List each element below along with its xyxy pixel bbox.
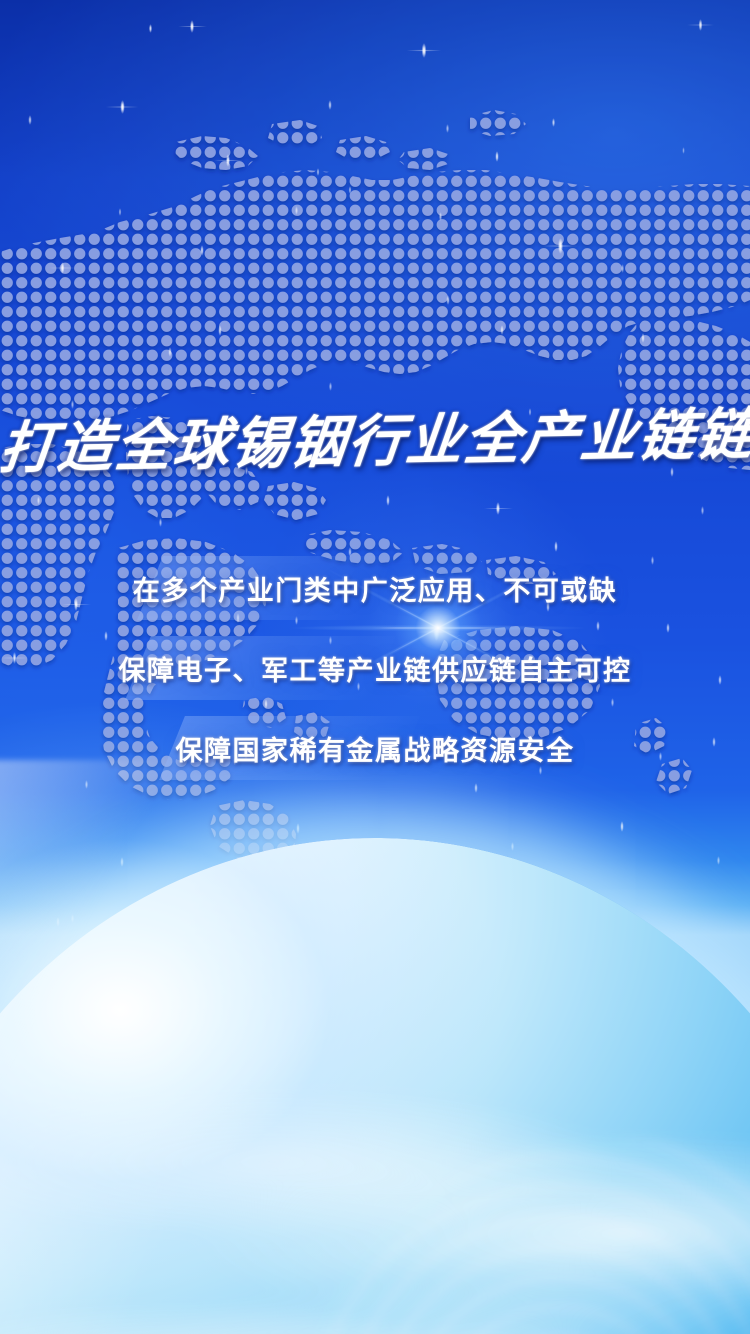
sparkle-icon — [349, 186, 352, 194]
earth-highlight — [0, 838, 750, 1334]
sparkle-icon — [682, 147, 684, 154]
sparkle-icon — [422, 43, 427, 58]
sparkle-icon — [190, 20, 194, 33]
sparkle-icon — [28, 115, 31, 125]
sparkle-icon — [641, 333, 644, 343]
sparkle-icon — [438, 212, 441, 221]
sparkle-icon — [218, 325, 221, 336]
sparkle-icon — [496, 502, 500, 515]
sparkle-icon — [200, 245, 203, 256]
sparkle-icon — [119, 208, 122, 216]
subtitle-row-1: 在多个产业门类中广泛应用、不可或缺 — [0, 556, 750, 620]
sparkle-icon — [698, 19, 702, 31]
sparkle-ray — [686, 24, 715, 25]
sparkle-ray — [105, 106, 139, 108]
sparkle-icon — [446, 295, 449, 305]
sparkle-ray — [177, 25, 208, 27]
sparkle-icon — [666, 623, 669, 633]
earth-horizon-graphic — [0, 838, 750, 1334]
sparkle-icon — [700, 506, 703, 515]
sparkle-icon — [60, 262, 64, 274]
subtitle-text-2: 保障电子、军工等产业链供应链自主可控 — [119, 649, 632, 688]
subtitle-text-3: 保障国家稀有金属战略资源安全 — [176, 729, 575, 768]
sparkle-icon — [294, 206, 297, 215]
subtitle-row-3: 保障国家稀有金属战略资源安全 — [0, 716, 750, 780]
sparkle-icon — [70, 400, 73, 409]
sparkle-icon — [296, 823, 299, 834]
sparkle-icon — [554, 541, 557, 552]
sparkle-ray — [213, 159, 244, 161]
sparkle-icon — [500, 325, 503, 335]
sparkle-icon — [495, 151, 498, 162]
sparkle-icon — [84, 780, 87, 789]
subtitle-row-2: 保障电子、军工等产业链供应链自主可控 — [0, 636, 750, 700]
sparkle-icon — [328, 382, 331, 391]
sparkle-ray — [415, 631, 458, 633]
sparkle-ray — [406, 49, 442, 51]
subtitle-text-1: 在多个产业门类中广泛应用、不可或缺 — [133, 569, 618, 608]
poster-title-text: 打造全球锡铟行业全产业链链主 — [0, 404, 750, 481]
sparkle-icon — [226, 154, 230, 167]
sparkle-icon — [317, 168, 320, 176]
sparkle-icon — [445, 124, 448, 133]
sparkle-icon — [328, 100, 331, 110]
sparkle-icon — [620, 264, 623, 273]
sparkle-icon — [120, 100, 124, 114]
sparkle-icon — [264, 699, 267, 709]
poster-canvas: 打造全球锡铟行业全产业链链主 在多个产业门类中广泛应用、不可或缺 保障电子、军工… — [0, 0, 750, 1334]
sparkle-ray — [541, 245, 579, 247]
sparkle-icon — [36, 496, 39, 505]
poster-title: 打造全球锡铟行业全产业链链主 — [0, 412, 750, 474]
sparkle-icon — [596, 621, 599, 631]
sparkle-ray — [48, 267, 77, 268]
sparkle-icon — [168, 347, 171, 357]
sparkle-icon — [474, 783, 477, 793]
sparkle-icon — [158, 518, 161, 527]
sparkle-icon — [551, 118, 554, 127]
sparkle-icon — [620, 821, 623, 832]
sparkle-ray — [483, 507, 514, 509]
sparkle-icon — [557, 238, 562, 254]
sparkle-icon — [386, 495, 389, 506]
sparkle-icon — [148, 24, 151, 33]
